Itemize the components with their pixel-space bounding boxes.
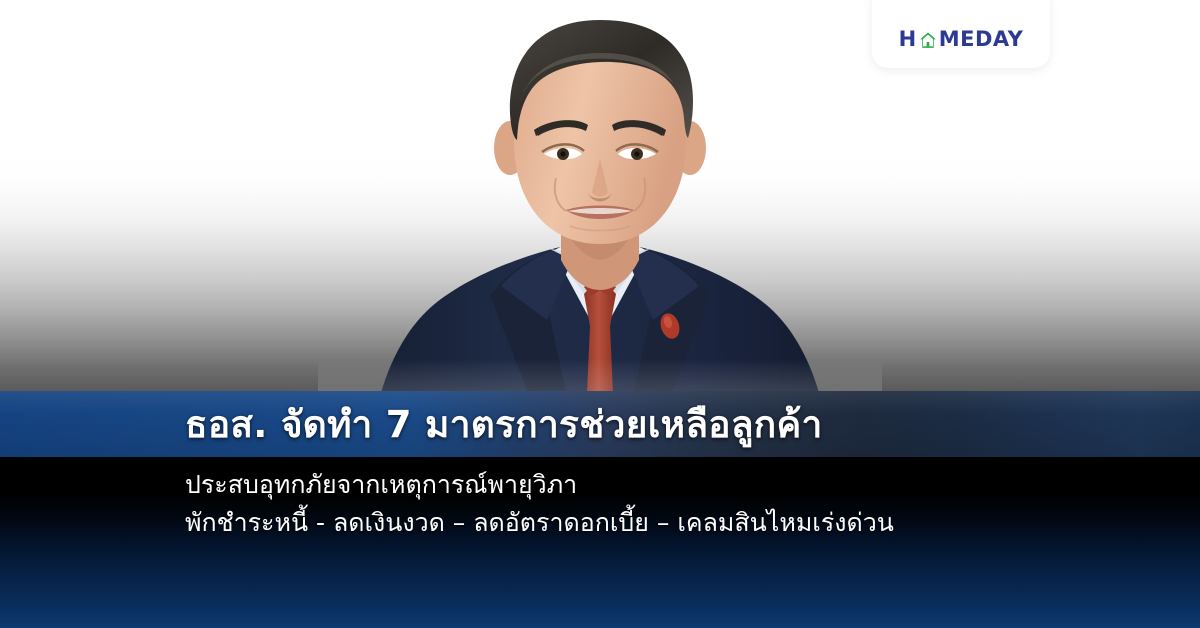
subtitle-block: ประสบอุทกภัยจากเหตุการณ์พายุวิภา พักชำระ… xyxy=(185,466,1145,542)
brand-logo-card[interactable]: H MEDAY xyxy=(872,0,1050,68)
subtitle-line-1: ประสบอุทกภัยจากเหตุการณ์พายุวิภา xyxy=(185,466,1145,504)
house-icon xyxy=(918,30,938,50)
banner-graphic: ธอส. จัดทำ 7 มาตรการช่วยเหลือลูกค้า ประส… xyxy=(0,0,1200,628)
logo-text-left: H xyxy=(899,29,917,50)
brand-logo: H MEDAY xyxy=(899,29,1024,50)
page-title: ธอส. จัดทำ 7 มาตรการช่วยเหลือลูกค้า xyxy=(185,396,1085,454)
subtitle-line-2: พักชำระหนี้ - ลดเงินงวด – ลดอัตราดอกเบี้… xyxy=(185,504,1145,542)
logo-text-right: MEDAY xyxy=(939,29,1024,50)
